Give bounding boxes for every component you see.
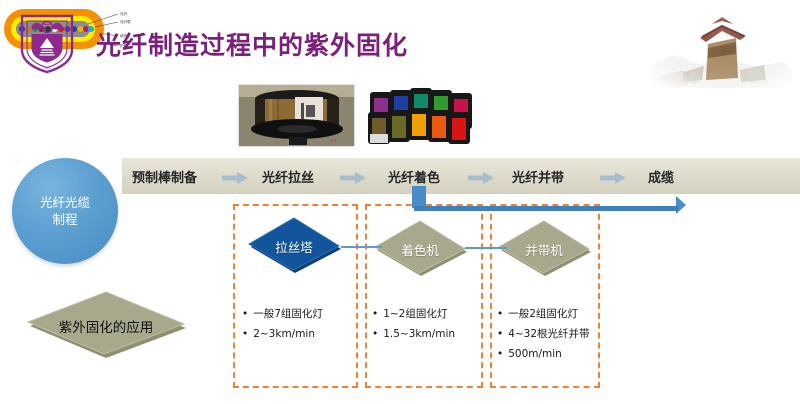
bullet-item: 一般2组固化灯 xyxy=(497,304,603,324)
application-diamond: 紫外固化的应用 xyxy=(22,288,190,364)
stage-node-ribbon-machine[interactable]: 并带机 xyxy=(495,218,593,280)
process-label-circle: 光纤光缆制程 xyxy=(12,158,118,264)
stage-node-label-2: 并带机 xyxy=(495,218,593,280)
stage-node-label-1: 着色机 xyxy=(371,218,469,280)
process-step-1[interactable]: 光纤拉丝 xyxy=(262,167,314,186)
stage-node-label-0: 拉丝塔 xyxy=(245,215,343,277)
bullet-item: 2~3km/min xyxy=(242,324,357,344)
process-label-circle-text: 光纤光缆制程 xyxy=(40,194,90,228)
stage-bullets-0: 一般7组固化灯 2~3km/min xyxy=(242,304,357,344)
circle-line-1: 光纤光缆 xyxy=(40,195,90,210)
svg-text:光纤: 光纤 xyxy=(120,11,128,16)
stage-bullets-2: 一般2组固化灯 4~32根光纤并带 500m/min xyxy=(497,304,603,364)
svg-text:1902: 1902 xyxy=(43,66,51,70)
bracket-connector xyxy=(410,186,688,214)
process-arrow-icon xyxy=(222,171,248,183)
slide-canvas: 1902 光纤制造过程中的紫外固化 xyxy=(0,0,800,404)
application-diamond-label: 紫外固化的应用 xyxy=(22,288,190,364)
page-title: 光纤制造过程中的紫外固化 xyxy=(96,26,408,62)
bullet-item: 500m/min xyxy=(497,344,603,364)
process-step-3[interactable]: 光纤并带 xyxy=(512,167,564,186)
svg-text:•••: ••• xyxy=(331,138,337,144)
stage-node-drawing-tower[interactable]: 拉丝塔 xyxy=(245,215,343,277)
stage-bullets-1: 1~2组固化灯 1.5~3km/min xyxy=(372,304,484,344)
process-arrow-icon xyxy=(340,171,366,183)
watercolor-pavilion-artwork xyxy=(644,8,794,88)
svg-text:光纤带: 光纤带 xyxy=(120,19,131,24)
process-step-2[interactable]: 光纤着色 xyxy=(388,167,440,186)
nanjing-university-shield-logo: 1902 xyxy=(18,12,76,74)
process-arrow-icon xyxy=(600,171,626,183)
circle-line-2: 制程 xyxy=(52,212,77,227)
stage-node-coloring-machine[interactable]: 着色机 xyxy=(371,218,469,280)
bullet-item: 1.5~3km/min xyxy=(372,324,484,344)
photo-colored-fiber-spools xyxy=(366,84,483,147)
bullet-item: 一般7组固化灯 xyxy=(242,304,357,324)
photo-fiber-spool: ••• xyxy=(238,84,355,147)
bullet-item: 1~2组固化灯 xyxy=(372,304,484,324)
process-arrow-icon xyxy=(468,171,494,183)
process-step-4[interactable]: 成缆 xyxy=(648,167,674,186)
process-step-0[interactable]: 预制棒制备 xyxy=(132,167,197,186)
bullet-item: 4~32根光纤并带 xyxy=(497,324,603,344)
